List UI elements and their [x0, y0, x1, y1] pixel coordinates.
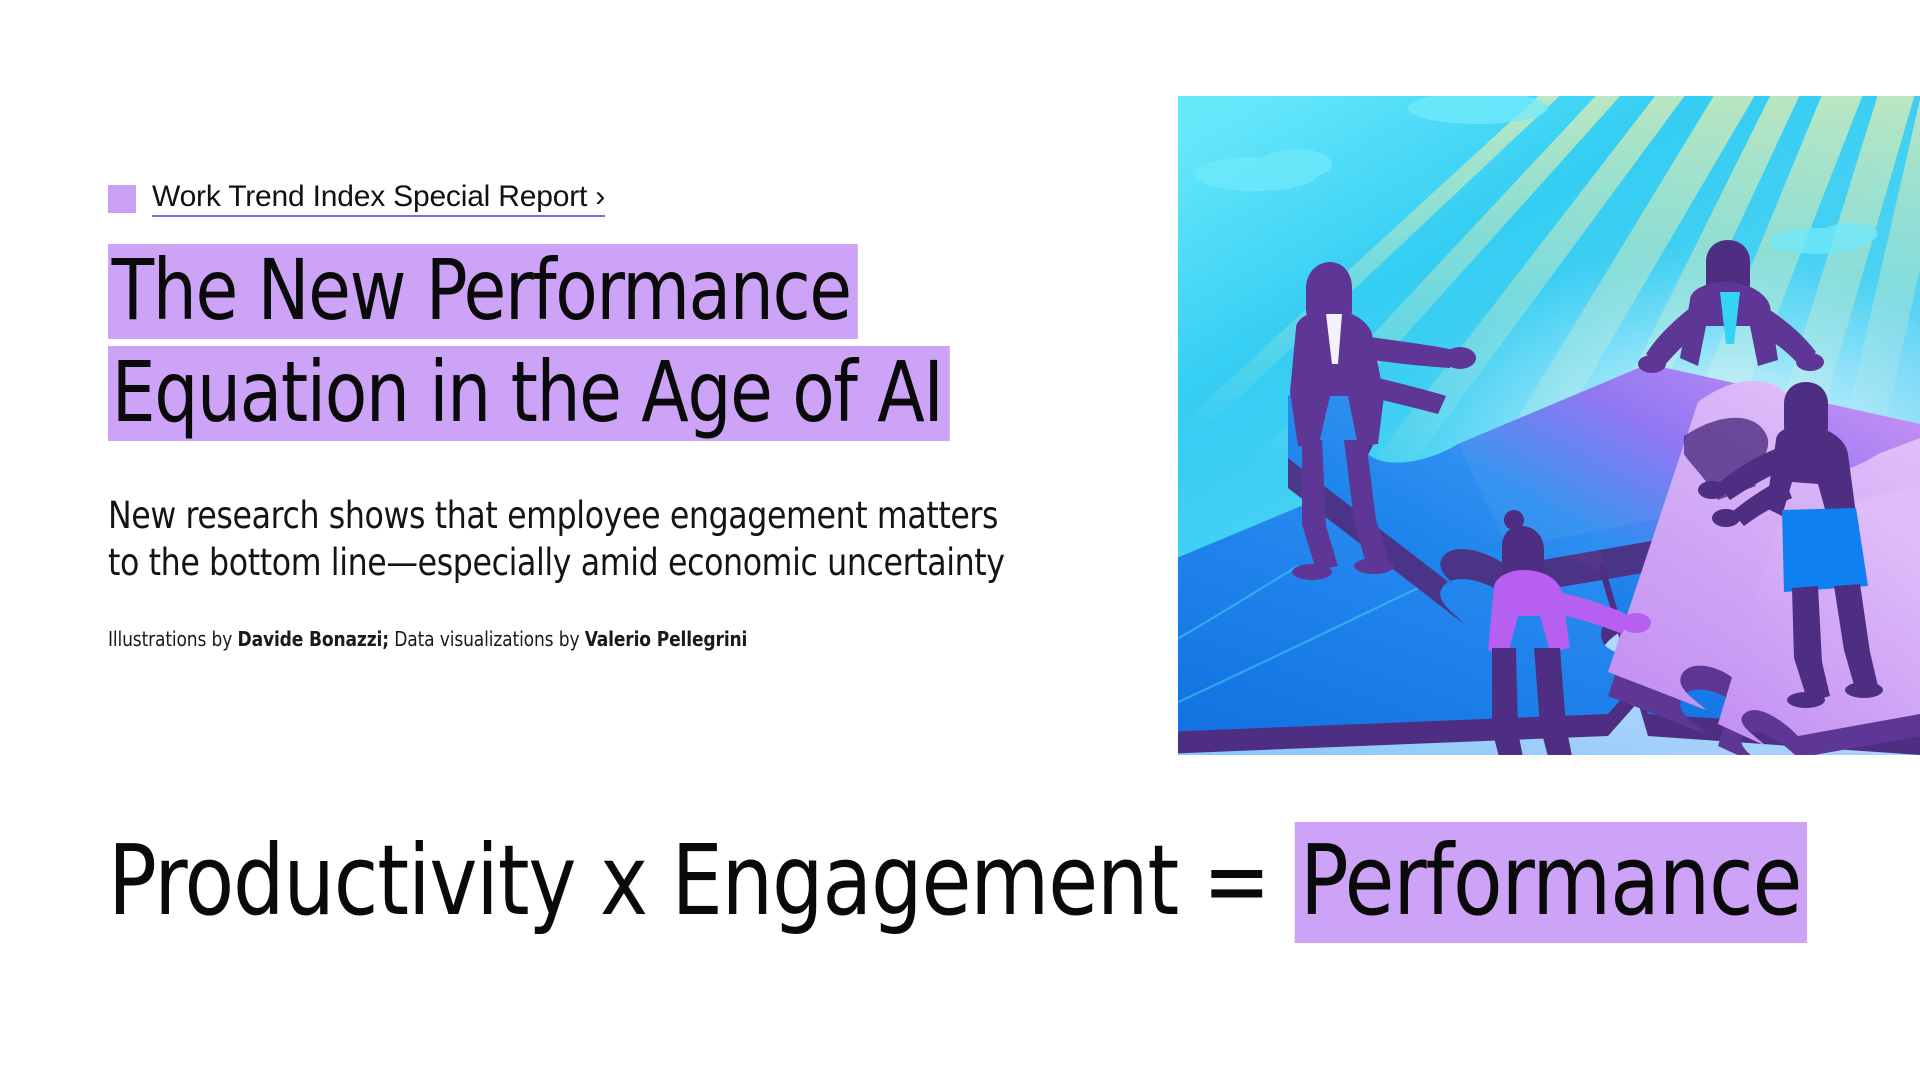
dataviz-author-name: Valerio Pellegrini [585, 627, 748, 651]
equation-highlighted-term: Performance [1294, 822, 1807, 943]
deck-line-2: to the bottom line—especially amid econo… [108, 540, 1068, 587]
illustrator-name: Davide Bonazzi; [238, 627, 389, 651]
headline-line-2: Equation in the Age of AI [108, 346, 950, 441]
page-title: The New Performance Equation in the Age … [108, 244, 1118, 441]
dataviz-label: Data visualizations by [389, 627, 585, 651]
purple-square-icon [108, 185, 136, 213]
article-text-column: Work Trend Index Special Report › The Ne… [108, 182, 1118, 651]
credits-line: Illustrations by Davide Bonazzi; Data vi… [108, 627, 1068, 651]
page-root: Work Trend Index Special Report › The Ne… [0, 0, 1920, 1080]
deck-line-1: New research shows that employee engagem… [108, 493, 1068, 540]
puzzle-assembly-illustration [1178, 96, 1920, 755]
illustration-artwork [1178, 96, 1920, 755]
headline-line-1: The New Performance [108, 244, 858, 339]
equation-prefix: Productivity x Engagement = [108, 824, 1294, 937]
illustrations-label: Illustrations by [108, 627, 238, 651]
eyebrow-kicker: Work Trend Index Special Report › [108, 182, 1118, 216]
work-trend-index-link[interactable]: Work Trend Index Special Report › [152, 181, 605, 218]
article-deck: New research shows that employee engagem… [108, 493, 1068, 587]
performance-equation: Productivity x Engagement = Performance [108, 832, 1807, 929]
